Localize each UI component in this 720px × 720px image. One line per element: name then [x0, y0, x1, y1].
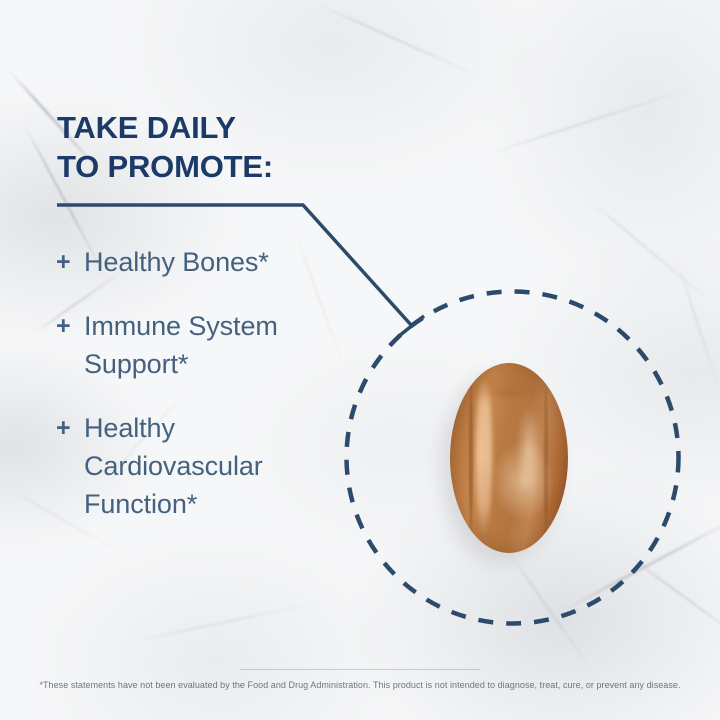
benefit-item: + Healthy Bones* — [56, 243, 356, 281]
plus-icon: + — [56, 409, 84, 447]
softgel-capsule — [450, 363, 568, 553]
capsule-seam-left — [469, 371, 473, 546]
capsule-seam-right — [544, 374, 548, 541]
benefits-list: + Healthy Bones* + Immune System Support… — [56, 243, 356, 549]
plus-icon: + — [56, 307, 84, 345]
product-highlight — [340, 285, 685, 630]
benefit-item: + Immune System Support* — [56, 307, 356, 383]
benefit-item: + Healthy Cardiovascular Function* — [56, 409, 356, 523]
benefit-label: Healthy Bones* — [84, 243, 269, 281]
capsule-specular-highlight — [516, 405, 542, 496]
headline: TAKE DAILY TO PROMOTE: — [57, 108, 387, 187]
capsule-highlight — [476, 376, 492, 536]
benefit-label: Immune System Support* — [84, 307, 356, 383]
product-benefits-graphic: TAKE DAILY TO PROMOTE: + Healthy Bones* … — [0, 0, 720, 720]
headline-line-2: TO PROMOTE: — [57, 147, 387, 186]
footer-divider — [240, 669, 480, 670]
disclaimer-text: *These statements have not been evaluate… — [0, 679, 720, 692]
headline-line-1: TAKE DAILY — [57, 108, 387, 147]
capsule-body — [450, 363, 568, 553]
benefit-label: Healthy Cardiovascular Function* — [84, 409, 356, 523]
plus-icon: + — [56, 243, 84, 281]
